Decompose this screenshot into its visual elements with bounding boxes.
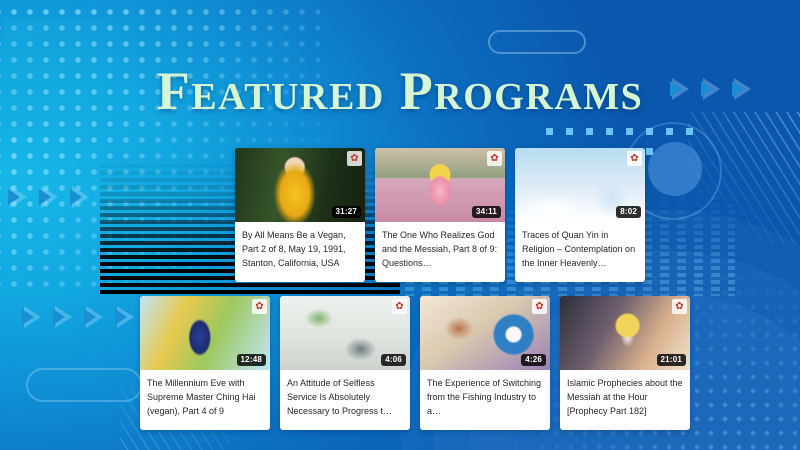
channel-logo-icon: ✿ [627, 151, 642, 166]
channel-logo-icon: ✿ [347, 151, 362, 166]
video-title: By All Means Be a Vegan, Part 2 of 8, Ma… [235, 222, 365, 282]
diagonal-hatch-right-icon [688, 112, 800, 244]
channel-logo-icon: ✿ [392, 299, 407, 314]
circle-fill-icon [648, 142, 702, 196]
video-title: The Millennium Eve with Supreme Master C… [140, 370, 270, 430]
video-duration-badge: 4:06 [381, 354, 406, 366]
video-card[interactable]: ✿ 4:26 The Experience of Switching from … [420, 296, 550, 430]
video-duration-badge: 21:01 [657, 354, 686, 366]
video-card[interactable]: ✿ 8:02 Traces of Quan Yin in Religion – … [515, 148, 645, 282]
channel-logo-icon: ✿ [252, 299, 267, 314]
video-title: An Attitude of Selfless Service Is Absol… [280, 370, 410, 430]
video-thumbnail[interactable]: ✿ 12:48 [140, 296, 270, 370]
featured-programs-screen: Featured Programs ✿ 31:27 By All Means B… [0, 0, 800, 450]
video-thumbnail[interactable]: ✿ 8:02 [515, 148, 645, 222]
video-duration-badge: 34:11 [472, 206, 501, 218]
channel-logo-icon: ✿ [487, 151, 502, 166]
video-card[interactable]: ✿ 12:48 The Millennium Eve with Supreme … [140, 296, 270, 430]
video-title: Traces of Quan Yin in Religion – Contemp… [515, 222, 645, 282]
video-title: The One Who Realizes God and the Messiah… [375, 222, 505, 282]
video-card[interactable]: ✿ 31:27 By All Means Be a Vegan, Part 2 … [235, 148, 365, 282]
video-card[interactable]: ✿ 21:01 Islamic Prophecies about the Mes… [560, 296, 690, 430]
featured-row-1: ✿ 31:27 By All Means Be a Vegan, Part 2 … [235, 148, 645, 282]
pill-outline-bottom-icon [26, 368, 142, 402]
video-thumbnail[interactable]: ✿ 4:26 [420, 296, 550, 370]
video-thumbnail[interactable]: ✿ 21:01 [560, 296, 690, 370]
video-duration-badge: 31:27 [332, 206, 361, 218]
video-duration-badge: 4:26 [521, 354, 546, 366]
video-thumbnail[interactable]: ✿ 4:06 [280, 296, 410, 370]
video-card[interactable]: ✿ 4:06 An Attitude of Selfless Service I… [280, 296, 410, 430]
video-thumbnail[interactable]: ✿ 34:11 [375, 148, 505, 222]
video-thumbnail[interactable]: ✿ 31:27 [235, 148, 365, 222]
video-duration-badge: 8:02 [616, 206, 641, 218]
channel-logo-icon: ✿ [532, 299, 547, 314]
play-triangles-topleft-icon [10, 186, 89, 208]
video-title: Islamic Prophecies about the Messiah at … [560, 370, 690, 430]
page-title: Featured Programs [0, 60, 800, 122]
pill-outline-top-icon [488, 30, 586, 54]
channel-logo-icon: ✿ [672, 299, 687, 314]
featured-row-2: ✿ 12:48 The Millennium Eve with Supreme … [140, 296, 690, 430]
video-duration-badge: 12:48 [237, 354, 266, 366]
video-title: The Experience of Switching from the Fis… [420, 370, 550, 430]
video-card[interactable]: ✿ 34:11 The One Who Realizes God and the… [375, 148, 505, 282]
